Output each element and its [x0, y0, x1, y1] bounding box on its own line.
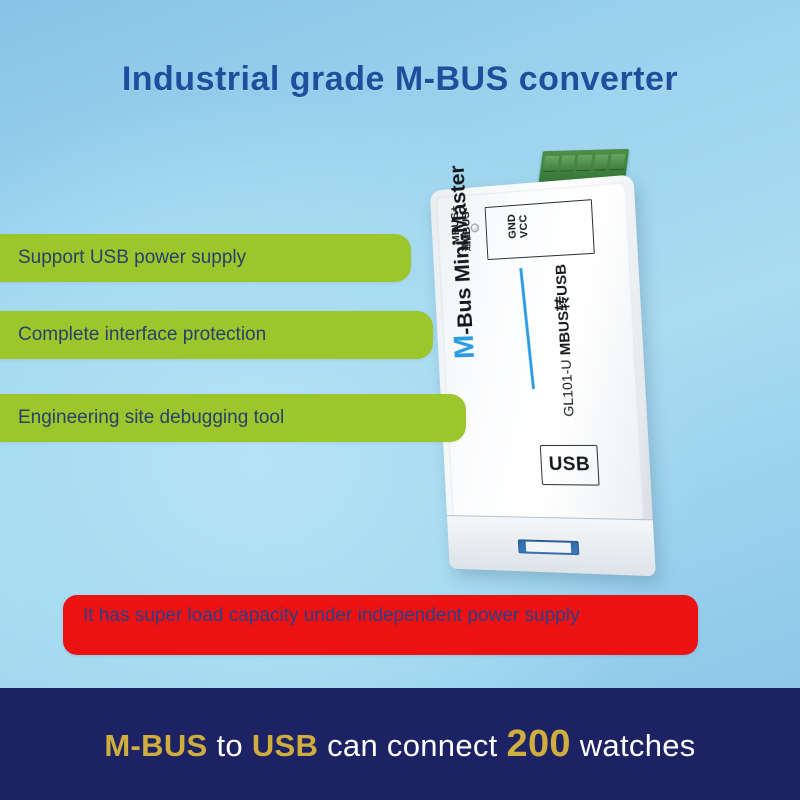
model-name: MBUS转USB [552, 264, 574, 356]
footer-part3: USB [252, 728, 318, 763]
footer-part5: watches [580, 728, 696, 763]
feature-pill-3: Engineering site debugging tool [0, 394, 466, 442]
page-title: Industrial grade M-BUS converter [0, 60, 800, 99]
footer-text: M-BUS to USB can connect 200 watches [104, 723, 695, 766]
feature-label: Complete interface protection [18, 324, 266, 346]
terminal-screw [543, 156, 559, 172]
terminal-screws [543, 154, 625, 172]
brand-logo-text: M-Bus Mini-Master [440, 164, 482, 359]
footer-bar: M-BUS to USB can connect 200 watches [0, 688, 800, 800]
poster-canvas: Industrial grade M-BUS converter 通信 MBUS… [0, 0, 800, 800]
model-text: GL101-U MBUS转USB [550, 263, 579, 416]
model-code: GL101-U [558, 359, 577, 417]
brand-logo-m: M [448, 334, 480, 359]
device-front-panel [447, 515, 656, 576]
feature-label: Engineering site debugging tool [18, 407, 284, 429]
feature-pill-1: Support USB power supply [0, 234, 411, 282]
terminal-label-box [485, 199, 595, 260]
device-body-wrap: 通信 MBUS+ MBUS- GND VCC M-Bus Mini-Master… [400, 182, 730, 592]
footer-part1: M-BUS [104, 728, 207, 763]
usb-connector [518, 539, 580, 555]
device-case: 通信 MBUS+ MBUS- GND VCC M-Bus Mini-Master… [430, 174, 656, 576]
brand-logo-rest: -Bus Mini-Master [445, 164, 477, 335]
feature-pill-2: Complete interface protection [0, 311, 433, 359]
feature-label: Support USB power supply [18, 247, 246, 269]
terminal-screw [560, 155, 576, 171]
brand-underline [519, 268, 535, 389]
terminal-screw [610, 154, 626, 170]
highlight-text: It has super load capacity under indepen… [83, 605, 579, 626]
label-vcc: VCC [518, 214, 531, 238]
footer-part2: to [216, 728, 242, 763]
footer-part4: can connect [327, 728, 497, 763]
terminal-screw [593, 154, 609, 170]
footer-quantity: 200 [507, 723, 571, 765]
highlight-banner: It has super load capacity under indepen… [63, 595, 698, 655]
usb-port-label-box: USB [540, 445, 600, 486]
terminal-screw [576, 155, 592, 171]
device-top-face: 通信 MBUS+ MBUS- GND VCC M-Bus Mini-Master… [436, 182, 645, 522]
usb-port-label: USB [548, 454, 591, 476]
product-photo: 通信 MBUS+ MBUS- GND VCC M-Bus Mini-Master… [400, 130, 730, 590]
